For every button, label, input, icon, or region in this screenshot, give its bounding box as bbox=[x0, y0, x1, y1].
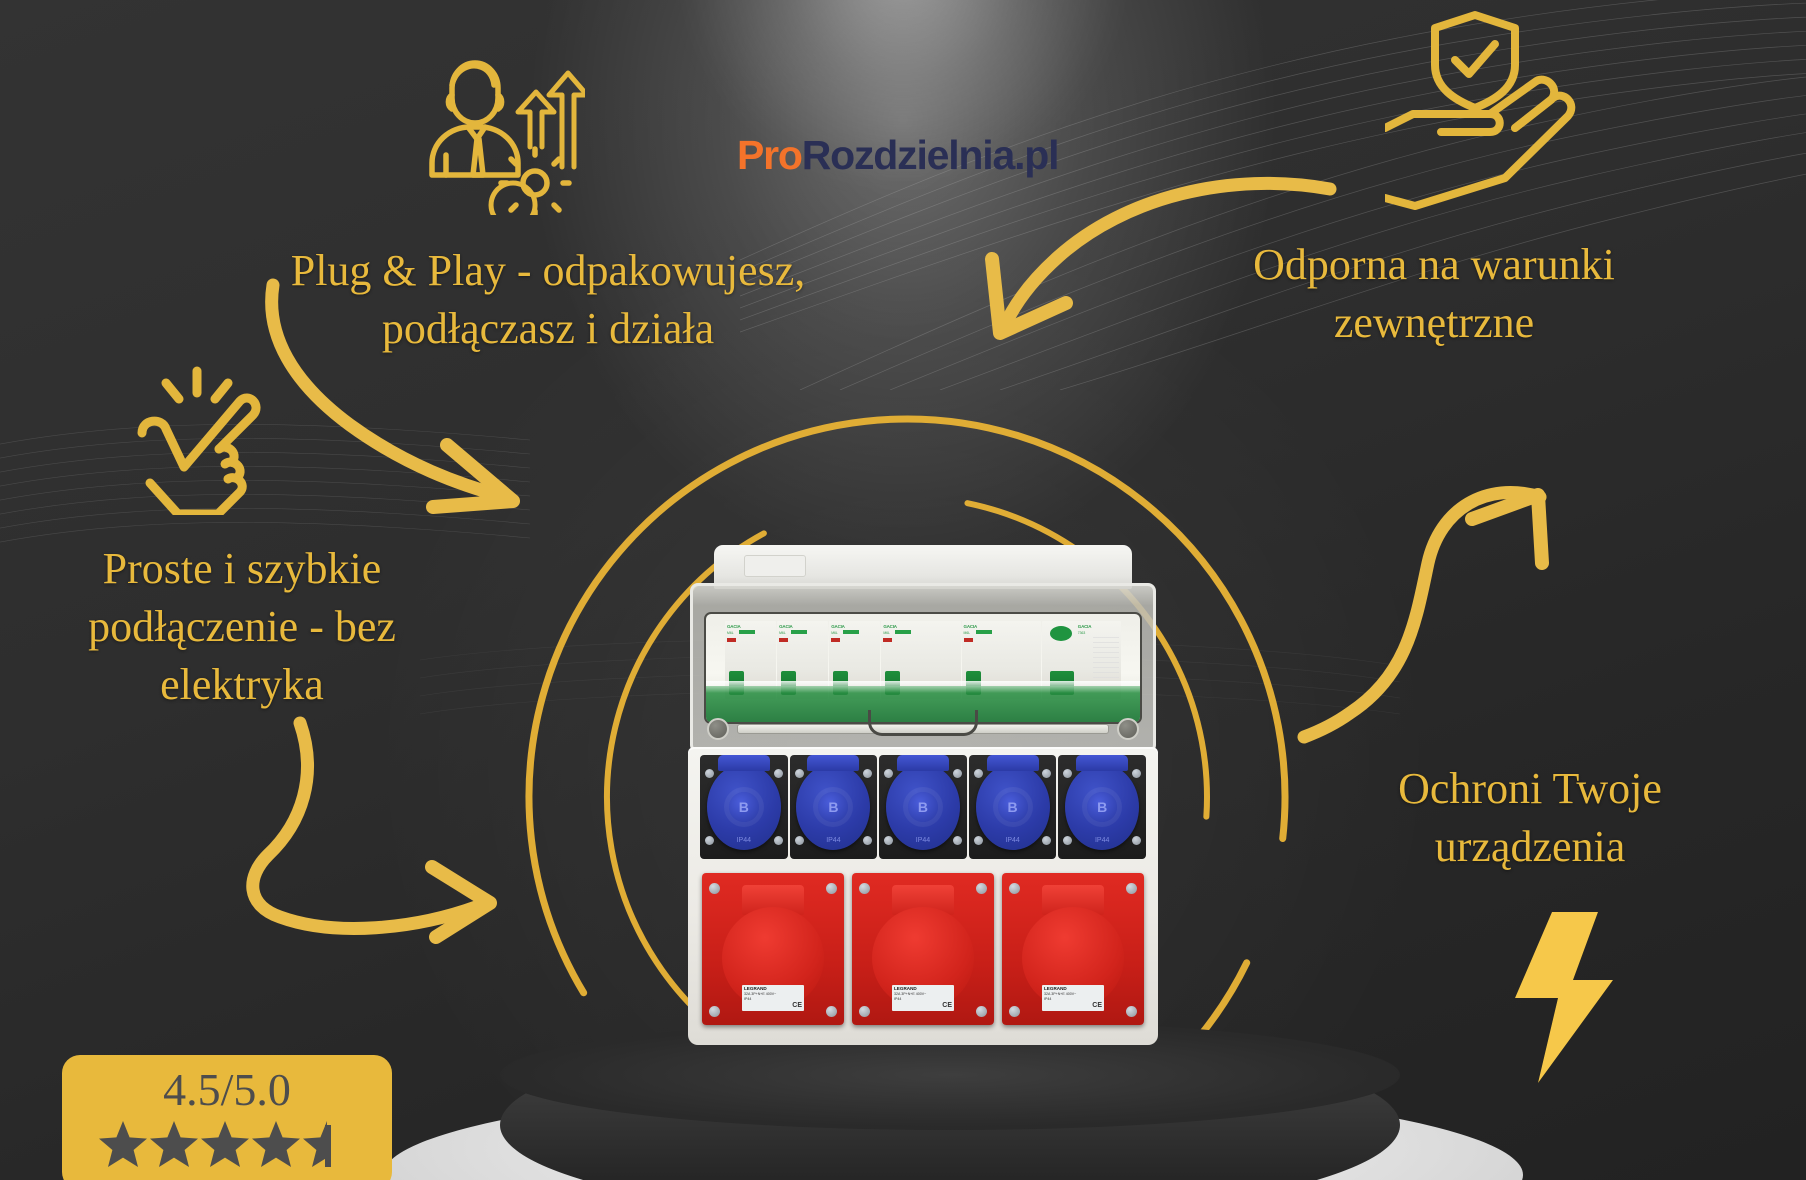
red-socket-label: LEGRAND 32A 3P+N+E 400V~ IP44 CE bbox=[892, 985, 954, 1011]
arrow-protects-to-product bbox=[1290, 485, 1560, 755]
socket-screw bbox=[709, 1006, 720, 1017]
socket-screw bbox=[795, 769, 804, 778]
breaker-green-bar bbox=[791, 630, 807, 634]
caption-simple-connection: Proste i szybkie podłączenie - bez elekt… bbox=[62, 540, 422, 714]
red-socket-spec: 32A 3P+N+E 400V~ bbox=[1044, 992, 1076, 996]
socket-screw bbox=[953, 769, 962, 778]
socket-screw bbox=[1009, 1006, 1020, 1017]
click-hand-icon bbox=[120, 365, 275, 515]
socket-screw bbox=[1132, 836, 1141, 845]
blue-socket-ip-label: IP44 bbox=[1005, 837, 1019, 844]
blue-socket[interactable]: B IP44 bbox=[1058, 755, 1146, 859]
breaker-window: GACIA M6L GACIA M6L GACIA bbox=[690, 583, 1156, 753]
blue-socket-tab bbox=[807, 755, 859, 771]
red-socket-label: LEGRAND 32A 3P+N+E 400V~ IP44 CE bbox=[742, 985, 804, 1011]
socket-screw bbox=[795, 836, 804, 845]
socket-screw bbox=[774, 836, 783, 845]
red-socket-brand: LEGRAND bbox=[744, 986, 767, 991]
socket-screw bbox=[884, 836, 893, 845]
logo-suffix: Rozdzielnia.pl bbox=[802, 132, 1059, 178]
red-socket-spec: 32A 3P+N+E 400V~ bbox=[744, 992, 776, 996]
blue-socket-emblem: B bbox=[998, 792, 1028, 822]
breaker-red-bar bbox=[883, 638, 892, 642]
blue-socket[interactable]: B IP44 bbox=[879, 755, 967, 859]
blue-socket[interactable]: B IP44 bbox=[790, 755, 878, 859]
breaker-green-bar bbox=[843, 630, 859, 634]
caption-plug-play: Plug & Play - odpakowujesz, podłączasz i… bbox=[228, 242, 868, 358]
cover-screw-right[interactable] bbox=[1117, 718, 1139, 740]
rcd-brand-label: GACIA bbox=[1078, 624, 1092, 629]
breaker-green-bar bbox=[895, 630, 911, 634]
red-socket-brand: LEGRAND bbox=[894, 986, 917, 991]
blue-socket[interactable]: B IP44 bbox=[969, 755, 1057, 859]
socket-screw bbox=[976, 1006, 987, 1017]
star-row bbox=[98, 1119, 356, 1175]
hand-shield-check-icon bbox=[1385, 10, 1605, 225]
socket-screw bbox=[1042, 769, 1051, 778]
socket-screw bbox=[826, 883, 837, 894]
blue-socket-ip-label: IP44 bbox=[916, 837, 930, 844]
lightning-bolt-icon bbox=[1510, 910, 1615, 1085]
transparent-cover: GACIA M6L GACIA M6L GACIA bbox=[704, 612, 1142, 724]
blue-socket-emblem: B bbox=[908, 792, 938, 822]
socket-screw bbox=[974, 769, 983, 778]
red-socket-brand: LEGRAND bbox=[1044, 986, 1067, 991]
breaker-code-label: M6L bbox=[831, 631, 838, 635]
breaker-code-label: M6L bbox=[883, 631, 890, 635]
socket-screw bbox=[884, 769, 893, 778]
promo-banner: GACIA M6L GACIA M6L GACIA bbox=[0, 0, 1806, 1180]
glass-sheen bbox=[706, 681, 1140, 693]
blue-socket-tab bbox=[1076, 755, 1128, 771]
logo-prefix: Pro bbox=[737, 132, 802, 178]
ce-mark: CE bbox=[1092, 1001, 1102, 1010]
socket-screw bbox=[863, 836, 872, 845]
rcd-code-label: 7363 bbox=[1078, 631, 1086, 635]
socket-screw bbox=[859, 883, 870, 894]
breaker-brand-label: GACIA bbox=[727, 624, 741, 629]
breaker-red-bar bbox=[779, 638, 788, 642]
breaker-red-bar bbox=[831, 638, 840, 642]
blue-socket-emblem: B bbox=[729, 792, 759, 822]
breaker-green-bar bbox=[739, 630, 755, 634]
socket-screw bbox=[705, 836, 714, 845]
rcd-wiring-diagram bbox=[1093, 637, 1119, 679]
socket-screw bbox=[1063, 769, 1072, 778]
blue-socket-lid[interactable]: B IP44 bbox=[976, 764, 1050, 850]
red-socket-ip: IP44 bbox=[894, 997, 901, 1001]
blue-socket-ip-label: IP44 bbox=[1095, 837, 1109, 844]
blue-socket-ip-label: IP44 bbox=[737, 837, 751, 844]
ce-mark: CE bbox=[942, 1001, 952, 1010]
cover-handle[interactable] bbox=[868, 710, 978, 736]
breaker-code-label: M6L bbox=[727, 631, 734, 635]
red-cee-socket[interactable]: LEGRAND 32A 3P+N+E 400V~ IP44 CE bbox=[702, 873, 844, 1025]
blue-socket-tab bbox=[987, 755, 1039, 771]
breaker-code-label: M6L bbox=[964, 631, 971, 635]
rating-badge: 4.5/5.0 bbox=[62, 1055, 392, 1180]
blue-socket-ip-label: IP44 bbox=[826, 837, 840, 844]
product-distribution-board: GACIA M6L GACIA M6L GACIA bbox=[688, 545, 1158, 1045]
rating-score: 4.5/5.0 bbox=[163, 1067, 291, 1113]
socket-screw bbox=[1132, 769, 1141, 778]
cover-screw-left[interactable] bbox=[707, 718, 729, 740]
socket-screw bbox=[953, 836, 962, 845]
breaker-green-bar bbox=[976, 630, 992, 634]
socket-screw bbox=[709, 883, 720, 894]
red-cee-socket[interactable]: LEGRAND 32A 3P+N+E 400V~ IP44 CE bbox=[1002, 873, 1144, 1025]
spotlight-glow bbox=[603, 0, 1203, 480]
red-socket-ip: IP44 bbox=[1044, 997, 1051, 1001]
blue-socket-emblem: B bbox=[818, 792, 848, 822]
breaker-brand-label: GACIA bbox=[964, 624, 978, 629]
red-cee-socket[interactable]: LEGRAND 32A 3P+N+E 400V~ IP44 CE bbox=[852, 873, 994, 1025]
ce-mark: CE bbox=[792, 1001, 802, 1010]
caption-weatherproof: Odporna na warunki zewnętrzne bbox=[1194, 236, 1674, 352]
expert-growth-icon bbox=[410, 55, 585, 215]
breaker-red-bar bbox=[964, 638, 973, 642]
socket-screw bbox=[1042, 836, 1051, 845]
rcd-test-knob bbox=[1050, 626, 1072, 641]
breaker-red-bar bbox=[727, 638, 736, 642]
blue-socket-lid[interactable]: B IP44 bbox=[1065, 764, 1139, 850]
red-socket-label: LEGRAND 32A 3P+N+E 400V~ IP44 CE bbox=[1042, 985, 1104, 1011]
socket-screw bbox=[826, 1006, 837, 1017]
blue-socket[interactable]: B IP44 bbox=[700, 755, 788, 859]
red-socket-ip: IP44 bbox=[744, 997, 751, 1001]
enclosure-body: B IP44 B IP44 bbox=[688, 747, 1158, 1045]
blue-socket-tab bbox=[718, 755, 770, 771]
socket-screw bbox=[1063, 836, 1072, 845]
socket-screw bbox=[974, 836, 983, 845]
breaker-brand-label: GACIA bbox=[779, 624, 793, 629]
blue-socket-tab bbox=[897, 755, 949, 771]
blue-socket-lid[interactable]: B IP44 bbox=[707, 764, 781, 850]
brand-logo: ProRozdzielnia.pl bbox=[737, 132, 1058, 179]
cover-lock-row bbox=[707, 718, 1139, 744]
arrow-simple-connection-to-product bbox=[240, 715, 530, 955]
breaker-code-label: M6L bbox=[779, 631, 786, 635]
blue-socket-lid[interactable]: B IP44 bbox=[796, 764, 870, 850]
socket-screw bbox=[1126, 1006, 1137, 1017]
blue-socket-emblem: B bbox=[1087, 792, 1117, 822]
blue-socket-lid[interactable]: B IP44 bbox=[886, 764, 960, 850]
red-socket-row: LEGRAND 32A 3P+N+E 400V~ IP44 CE LEGRAND… bbox=[702, 873, 1144, 1025]
enclosure-label-plate bbox=[744, 555, 806, 577]
rating-stars bbox=[98, 1119, 356, 1175]
blue-socket-row: B IP44 B IP44 bbox=[700, 755, 1146, 859]
red-socket-spec: 32A 3P+N+E 400V~ bbox=[894, 992, 926, 996]
socket-screw bbox=[774, 769, 783, 778]
socket-screw bbox=[1009, 883, 1020, 894]
caption-protects-devices: Ochroni Twoje urządzenia bbox=[1360, 760, 1700, 876]
breaker-brand-label: GACIA bbox=[883, 624, 897, 629]
socket-screw bbox=[976, 883, 987, 894]
socket-screw bbox=[705, 769, 714, 778]
breaker-brand-label: GACIA bbox=[831, 624, 845, 629]
socket-screw bbox=[1126, 883, 1137, 894]
socket-screw bbox=[859, 1006, 870, 1017]
socket-screw bbox=[863, 769, 872, 778]
